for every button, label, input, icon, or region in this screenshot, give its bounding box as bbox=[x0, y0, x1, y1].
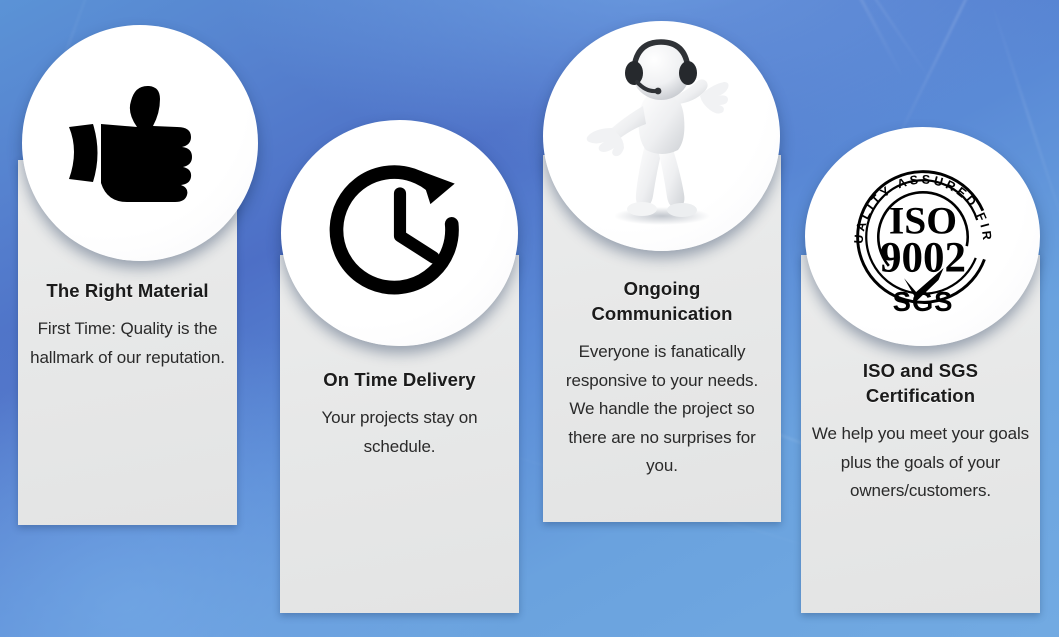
clock-arrow-icon bbox=[324, 157, 476, 309]
headset-figure-icon bbox=[574, 44, 749, 229]
card-title: On Time Delivery bbox=[290, 367, 509, 392]
card-text: Your projects stay on schedule. bbox=[290, 404, 509, 461]
card-title: The Right Material bbox=[28, 278, 227, 303]
card-text: We help you meet your goals plus the goa… bbox=[811, 420, 1030, 506]
card-text: First Time: Quality is the hallmark of o… bbox=[28, 315, 227, 372]
iso-sgs-seal-icon: QUALITY ASSURED FIRM ISO 9002 SGS bbox=[837, 151, 1009, 323]
feature-icon-circle-on-time-delivery bbox=[281, 120, 518, 346]
card-body: ISO and SGS Certification We help you me… bbox=[801, 358, 1040, 506]
card-body: Ongoing Communication Everyone is fanati… bbox=[543, 276, 781, 481]
feature-icon-circle-right-material bbox=[22, 25, 258, 261]
feature-icon-circle-ongoing-communication bbox=[543, 21, 780, 251]
background-light-streak bbox=[734, 0, 905, 81]
card-body: The Right Material First Time: Quality i… bbox=[18, 278, 237, 372]
infographic-canvas: The Right Material First Time: Quality i… bbox=[0, 0, 1059, 637]
thumbs-up-icon bbox=[65, 83, 215, 203]
background-light-streak bbox=[765, 0, 934, 86]
seal-line-sgs: SGS bbox=[892, 285, 953, 316]
seal-line-number: 9002 bbox=[880, 234, 966, 281]
feature-icon-circle-iso-sgs-certification: QUALITY ASSURED FIRM ISO 9002 SGS bbox=[805, 127, 1040, 346]
card-title: Ongoing Communication bbox=[553, 276, 771, 326]
card-title: ISO and SGS Certification bbox=[811, 358, 1030, 408]
card-body: On Time Delivery Your projects stay on s… bbox=[280, 367, 519, 461]
card-text: Everyone is fanatically responsive to yo… bbox=[553, 338, 771, 481]
